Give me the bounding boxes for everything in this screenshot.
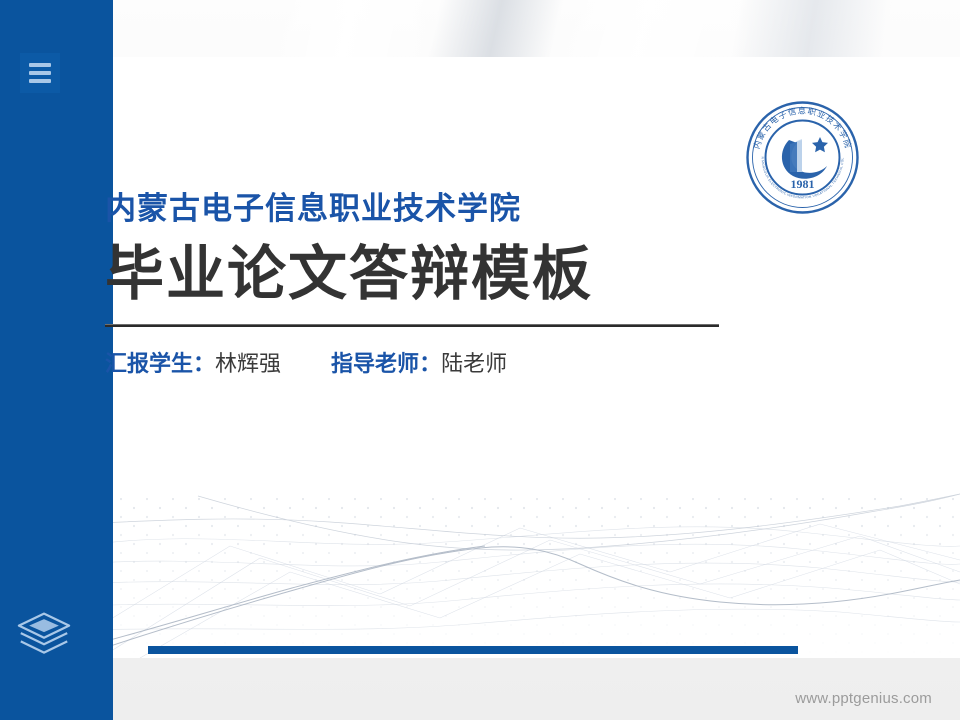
student-colon: ： [193, 349, 215, 380]
student-name: 林辉强 [215, 349, 281, 380]
student-label: 汇报学生 [105, 349, 193, 380]
presenter-advisor: 指导老师 ： 陆老师 [331, 349, 507, 380]
page-title: 毕业论文答辩模板 [105, 241, 805, 307]
menu-bar-3 [29, 79, 51, 83]
presenter-student: 汇报学生 ： 林辉强 [105, 349, 281, 380]
left-sidebar-rail [0, 0, 113, 720]
school-name: 内蒙古电子信息职业技术学院 [105, 190, 805, 229]
footer-url: www.pptgenius.com [795, 690, 932, 707]
layers-stack-icon[interactable] [15, 608, 73, 660]
emblem-ring-text-cn: 内蒙古电子信息职业技术学院 [751, 106, 853, 151]
advisor-colon: ： [419, 349, 441, 380]
emblem-sail-highlight [797, 139, 802, 172]
emblem-star-icon [812, 137, 828, 152]
emblem-year: 1981 [791, 177, 815, 191]
card-accent-bar [148, 646, 798, 654]
wireframe-mesh-decoration [80, 488, 960, 658]
advisor-name: 陆老师 [441, 349, 507, 380]
hamburger-menu-icon[interactable] [20, 53, 60, 93]
presentation-slide: 内蒙古电子信息职业技术学院 INNER MONGOLIA ELECTRONIC … [0, 0, 960, 720]
menu-bar-2 [29, 71, 51, 75]
title-text-block: 内蒙古电子信息职业技术学院 毕业论文答辩模板 汇报学生 ： 林辉强 指导老师 ：… [105, 190, 805, 380]
title-divider [105, 324, 719, 327]
menu-bar-1 [29, 63, 51, 67]
advisor-label: 指导老师 [331, 349, 419, 380]
presenter-info: 汇报学生 ： 林辉强 指导老师 ： 陆老师 [105, 349, 805, 380]
svg-text:内蒙古电子信息职业技术学院: 内蒙古电子信息职业技术学院 [751, 106, 853, 151]
